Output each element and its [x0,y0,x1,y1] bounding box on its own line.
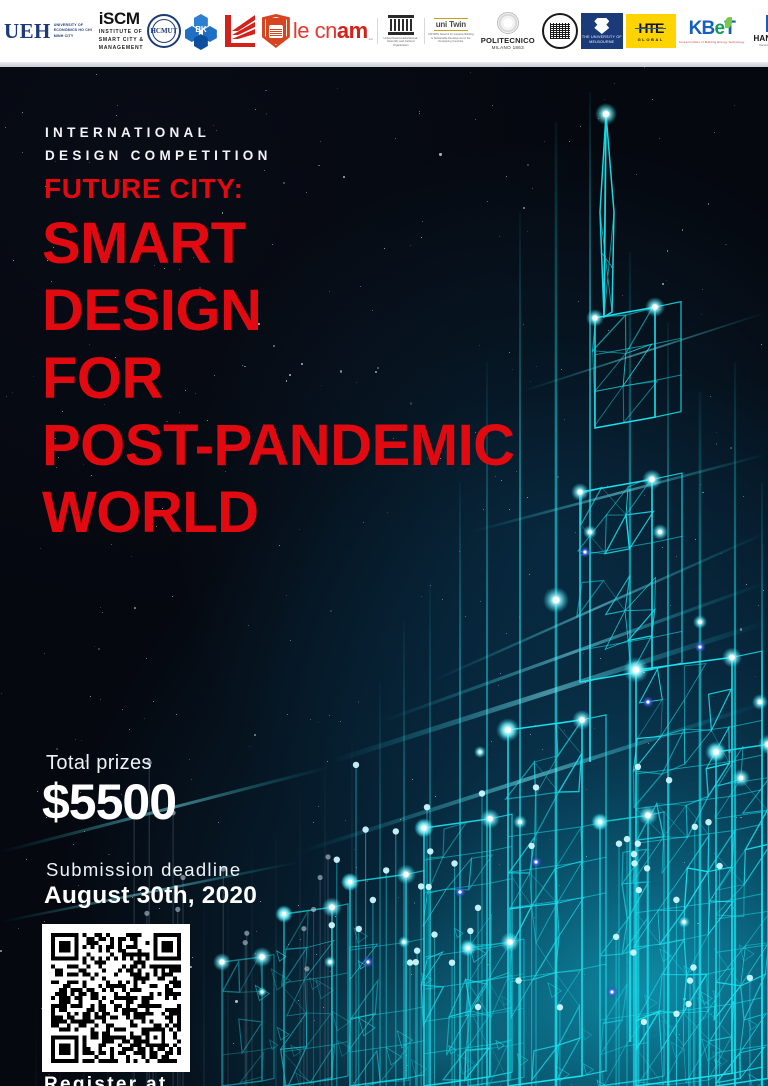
logo-kbet-subtitle: Korea Institute of Building Energy Techn… [679,40,744,44]
poster-subtitle: FUTURE CITY: [44,175,244,203]
poster-title-line-1: SMART [42,210,562,277]
logo-hte-subtitle: GLOBAL [638,37,665,42]
kicker-line-1: INTERNATIONAL [45,121,272,144]
logo-le-cnam-tm: Est. [369,38,374,42]
logo-bk: BK [184,14,218,48]
logo-iscm-subtitle: INSTITUTE OF SMART CITY & MANAGEMENT [99,28,144,52]
divider [377,18,378,44]
logo-politecnico-subtitle: MILANO 1863 [492,45,524,50]
logo-politecnico: POLITECNICO MILANO 1863 [477,12,539,50]
logo-ueh-subtitle: UNIVERSITY OF ECONOMICS HO CHI MINH CITY [54,23,96,38]
unesco-temple-icon [388,15,414,35]
logo-shield-university [262,14,290,48]
melbourne-crest-icon: THE UNIVERSITY OF MELBOURNE [581,13,623,49]
register-caption: Register at [44,1074,168,1086]
red-k-icon [221,13,259,49]
logo-iscm-mark: iSCM [99,10,140,27]
logo-politecnico-title: POLITECNICO [481,36,535,45]
logo-ueh-mark: UEH [4,21,51,42]
logo-melbourne: THE UNIVERSITY OF MELBOURNE [581,13,623,49]
logo-melbourne-subtitle: THE UNIVERSITY OF MELBOURNE [581,35,623,44]
poster-title-line-4: POST-PANDEMIC [42,412,562,479]
poster-title-line-3: FOR [42,345,562,412]
logo-unesco-subtitle: United Nations Educational, Scientific a… [381,37,421,48]
logo-unitwin-subtitle: UNITWIN Network for Capacity Building in… [428,33,474,44]
logo-le-cnam: le cnam Est. [293,20,374,42]
prize-label: Total prizes [46,752,152,775]
logo-hte-global: HTE GLOBAL [626,14,676,48]
logo-hcmut-seal: HCMUT [147,14,181,48]
logo-iscm: iSCM INSTITUTE OF SMART CITY & MANAGEMEN… [99,10,144,52]
logo-handong-title: HANDONG [753,34,768,43]
logo-handong-subtitle: Handong Global University [759,44,768,47]
logo-bk-mark: BK [184,25,218,34]
divider [424,18,425,44]
logo-bar-shadow [0,62,768,67]
logo-unesco: United Nations Educational, Scientific a… [381,15,421,48]
university-seal-icon: HCMUT [147,14,181,48]
poster-title: SMARTDESIGNFORPOST-PANDEMICWORLD [42,210,562,546]
kicker-heading: INTERNATIONAL DESIGN COMPETITION [45,121,272,167]
leaf-icon [725,17,732,28]
poster-title-line-2: DESIGN [42,277,562,344]
logo-ueh: UEH UNIVERSITY OF ECONOMICS HO CHI MINH … [4,21,96,42]
logo-unitwin: uni Twin UNITWIN Network for Capacity Bu… [428,18,474,44]
btu-seal-icon [542,13,578,49]
logo-hte-mark: HTE [638,21,663,35]
logo-btu [542,13,578,49]
logo-handong: H HANDONG Handong Global University [748,15,768,47]
poster-root: UEH UNIVERSITY OF ECONOMICS HO CHI MINH … [0,0,768,1086]
logo-kbet: KBeT Korea Institute of Building Energy … [679,19,745,44]
politecnico-seal-icon [497,12,519,34]
logo-red-k [221,13,259,49]
sponsor-logo-bar: UEH UNIVERSITY OF ECONOMICS HO CHI MINH … [0,0,768,62]
logo-le-cnam-mark: le cnam [293,20,368,42]
logo-hcmut-seal-mark: HCMUT [150,27,177,35]
poster-title-line-5: WORLD [42,479,562,546]
qr-code-box[interactable] [42,924,190,1072]
qr-code-icon[interactable] [51,933,181,1063]
kicker-line-2: DESIGN COMPETITION [45,144,272,167]
deadline-date: August 30th, 2020 [44,882,257,910]
shield-icon [262,14,290,48]
deadline-label: Submission deadline [46,859,241,881]
logo-unitwin-mark: uni Twin [434,18,468,31]
poster-content: INTERNATIONAL DESIGN COMPETITION FUTURE … [0,62,768,1086]
hte-global-icon: HTE GLOBAL [626,14,676,48]
bk-hexagon-icon: BK [184,14,218,48]
prize-amount: $5500 [42,777,176,827]
